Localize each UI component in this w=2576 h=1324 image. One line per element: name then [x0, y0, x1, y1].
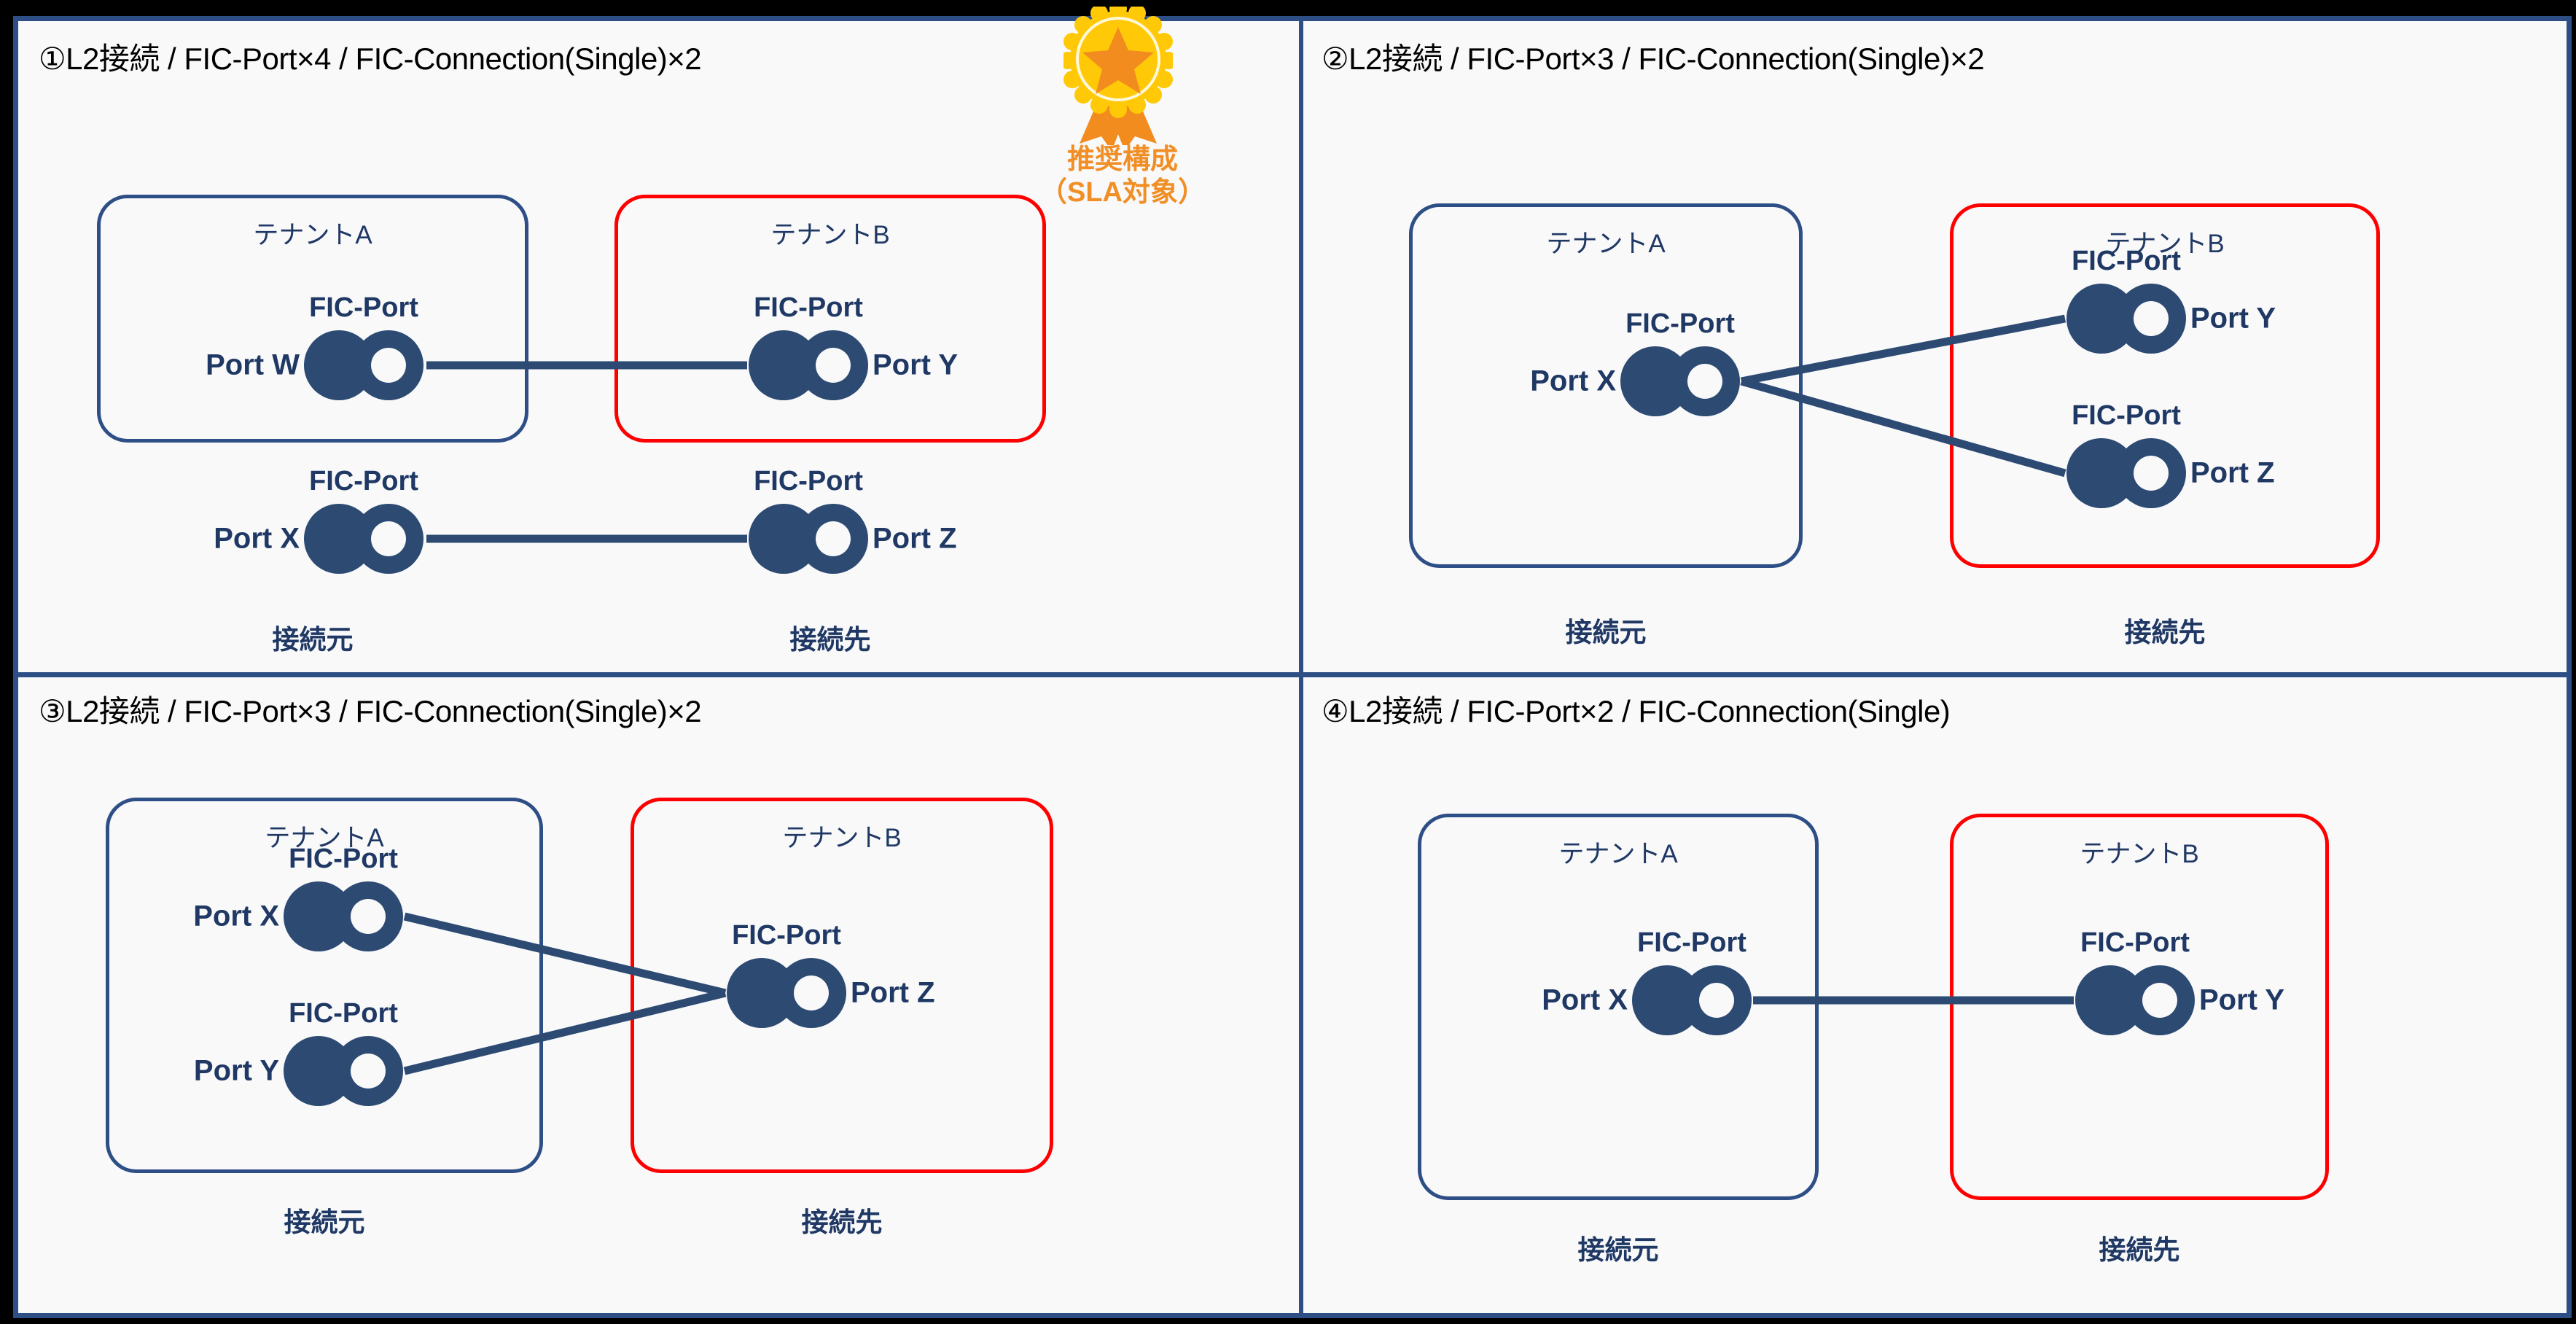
panel-1: ①L2接続 / FIC-Port×4 / FIC-Connection(Sing…	[18, 21, 1301, 674]
panel-3-dest-tenant-label: テナントB	[634, 817, 1050, 854]
panel-1-node-port-y[interactable]: FIC-Port Port Y	[747, 330, 870, 400]
fic-port-caption: FIC-Port	[309, 466, 418, 497]
badge-line-2: （SLA対象）	[1035, 176, 1210, 209]
port-label: Port Y	[194, 1055, 279, 1088]
fic-port-caption: FIC-Port	[309, 292, 418, 324]
badge-line-1: 推奨構成	[1035, 144, 1210, 176]
diagram-canvas: ①L2接続 / FIC-Port×4 / FIC-Connection(Sing…	[13, 16, 2572, 1318]
panel-1-dest-tenant-label: テナントB	[618, 214, 1042, 252]
port-label: Port X	[1530, 365, 1616, 398]
fic-port-icon	[2065, 284, 2187, 354]
panel-2-node-port-z[interactable]: FIC-Port Port Z	[2065, 438, 2187, 508]
panel-1-node-port-z[interactable]: FIC-Port Port Z	[747, 504, 870, 574]
panel-2-source-tenant-label: テナントA	[1413, 223, 1799, 260]
port-label: Port X	[214, 523, 300, 556]
panel-4-source-tenant-label: テナントA	[1421, 833, 1815, 871]
panel-3-node-port-z[interactable]: FIC-Port Port Z	[725, 958, 848, 1028]
fic-port-caption: FIC-Port	[732, 920, 841, 951]
panel-4: ④L2接続 / FIC-Port×2 / FIC-Connection(Sing…	[1301, 674, 2567, 1313]
panel-3: ③L2接続 / FIC-Port×3 / FIC-Connection(Sing…	[18, 674, 1301, 1313]
panel-4-dest-tenant-label: テナントB	[1954, 833, 2325, 871]
panel-4-node-port-x[interactable]: FIC-Port Port X	[1631, 965, 1753, 1035]
panel-3-node-port-x[interactable]: FIC-Port Port X	[282, 881, 405, 951]
port-label: Port X	[193, 900, 279, 933]
fic-port-caption: FIC-Port	[1637, 927, 1746, 959]
fic-port-caption: FIC-Port	[289, 998, 398, 1029]
fic-port-icon	[2074, 965, 2196, 1035]
port-label: Port X	[1542, 984, 1628, 1017]
recommended-badge	[1063, 7, 1173, 145]
port-label: Port Z	[873, 523, 957, 556]
panel-1-title: ①L2接続 / FIC-Port×4 / FIC-Connection(Sing…	[39, 34, 701, 79]
panel-1-node-port-x[interactable]: FIC-Port Port X	[303, 504, 425, 574]
panel-2-dest-edge-label: 接続先	[1950, 610, 2380, 650]
fic-port-icon	[282, 881, 405, 951]
panel-4-node-port-y[interactable]: FIC-Port Port Y	[2074, 965, 2196, 1035]
panel-1-node-port-w[interactable]: FIC-Port Port W	[303, 330, 425, 400]
fic-port-caption: FIC-Port	[754, 292, 863, 324]
panel-3-dest-edge-label: 接続先	[631, 1200, 1053, 1239]
fic-port-icon	[747, 504, 870, 574]
panel-1-dest-edge-label: 接続先	[614, 618, 1046, 657]
panel-3-source-edge-label: 接続元	[106, 1200, 543, 1239]
award-ribbon-icon	[1063, 7, 1173, 145]
fic-port-icon	[303, 504, 425, 574]
panel-2-node-port-x[interactable]: FIC-Port Port X	[1619, 346, 1741, 416]
panel-1-source-tenant-label: テナントA	[101, 214, 525, 252]
fic-port-icon	[282, 1036, 405, 1106]
fic-port-caption: FIC-Port	[2072, 400, 2181, 432]
panel-3-node-port-y[interactable]: FIC-Port Port Y	[282, 1036, 405, 1106]
port-label: Port Z	[2190, 457, 2275, 490]
panel-4-dest-edge-label: 接続先	[1950, 1228, 2329, 1267]
panel-4-source-edge-label: 接続元	[1418, 1228, 1819, 1267]
fic-port-caption: FIC-Port	[1625, 308, 1735, 340]
panel-grid: ①L2接続 / FIC-Port×4 / FIC-Connection(Sing…	[18, 21, 2567, 1313]
fic-port-icon	[725, 958, 848, 1028]
panel-2-source-edge-label: 接続元	[1409, 610, 1803, 650]
fic-port-icon	[2065, 438, 2187, 508]
panel-1-source-edge-label: 接続元	[97, 618, 528, 657]
recommended-badge-text: 推奨構成 （SLA対象）	[1035, 144, 1210, 209]
port-label: Port Y	[2199, 984, 2284, 1017]
port-label: Port W	[206, 349, 300, 382]
fic-port-caption: FIC-Port	[754, 466, 863, 497]
fic-port-caption: FIC-Port	[289, 844, 398, 875]
port-label: Port Z	[851, 977, 935, 1010]
fic-port-caption: FIC-Port	[2072, 246, 2181, 277]
port-label: Port Y	[2190, 303, 2276, 335]
fic-port-icon	[1619, 346, 1741, 416]
panel-2-node-port-y[interactable]: FIC-Port Port Y	[2065, 284, 2187, 354]
panel-3-title: ③L2接続 / FIC-Port×3 / FIC-Connection(Sing…	[39, 687, 701, 731]
panel-4-title: ④L2接続 / FIC-Port×2 / FIC-Connection(Sing…	[1322, 687, 1950, 731]
panel-2: ②L2接続 / FIC-Port×3 / FIC-Connection(Sing…	[1301, 21, 2567, 674]
fic-port-icon	[747, 330, 870, 400]
fic-port-icon	[1631, 965, 1753, 1035]
port-label: Port Y	[873, 349, 958, 382]
fic-port-caption: FIC-Port	[2080, 927, 2190, 959]
fic-port-icon	[303, 330, 425, 400]
panel-2-title: ②L2接続 / FIC-Port×3 / FIC-Connection(Sing…	[1322, 34, 1984, 79]
